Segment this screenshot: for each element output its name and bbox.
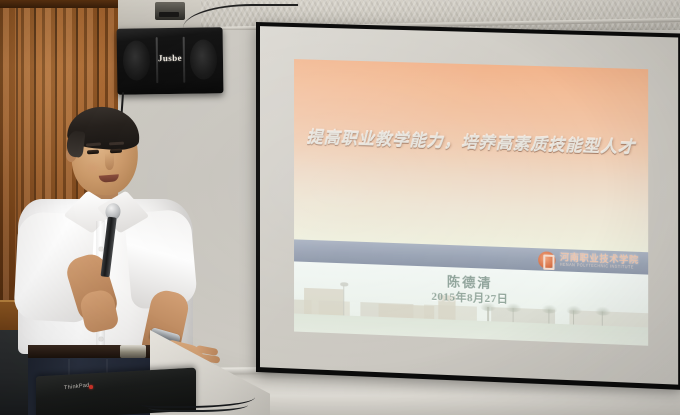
projection-screen-surface: 提高职业教学能力，培养高素质技能型人才 河南职业技术学院 HENAN POLYT… <box>260 26 678 385</box>
eye-left <box>87 150 99 155</box>
laptop-logo-dot-icon <box>89 385 93 389</box>
cable <box>148 398 248 412</box>
institution-emblem-icon <box>538 251 555 269</box>
cheek <box>84 161 102 175</box>
curtain-rod <box>0 0 118 8</box>
speaker-brand-label: Jusbe <box>117 52 223 63</box>
belt-buckle <box>120 345 146 358</box>
cable-bundle <box>140 390 255 412</box>
presentation-photo-scene: Jusbe 提高职业教学能力，培养高素质技能型人才 河南职业技术学院 HENAN… <box>0 0 680 415</box>
projection-screen-frame: 提高职业教学能力，培养高素质技能型人才 河南职业技术学院 HENAN POLYT… <box>256 22 680 390</box>
institution-logo: 河南职业技术学院 HENAN POLYTECHNIC INSTITUTE <box>538 251 648 272</box>
institution-name-block: 河南职业技术学院 HENAN POLYTECHNIC INSTITUTE <box>560 253 639 270</box>
nose <box>105 153 114 170</box>
wall-speaker: Jusbe <box>117 27 224 94</box>
speaker-mount-bracket <box>155 2 185 20</box>
institution-name-en: HENAN POLYTECHNIC INSTITUTE <box>560 264 639 271</box>
shirt-button <box>99 337 103 341</box>
projected-slide: 提高职业教学能力，培养高素质技能型人才 河南职业技术学院 HENAN POLYT… <box>294 59 648 346</box>
